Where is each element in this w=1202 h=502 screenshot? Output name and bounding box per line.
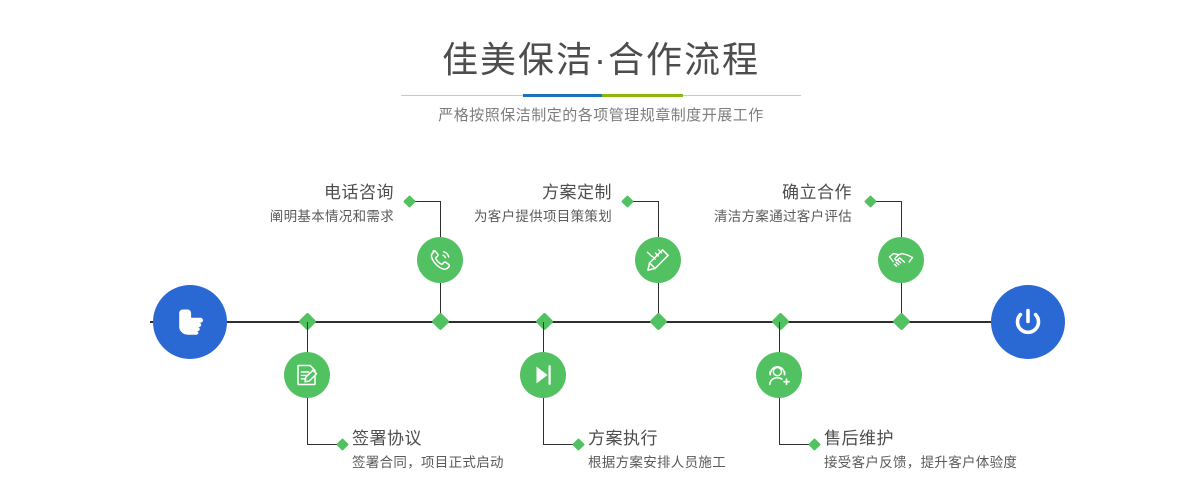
connector-vertical-2 [307, 322, 308, 352]
axis-marker-5 [771, 312, 789, 330]
page-title: 佳美保洁·合作流程 [0, 38, 1202, 82]
stage-title-6: 售后维护 [824, 428, 1144, 450]
stage-icon-5[interactable] [878, 237, 924, 283]
title-divider [401, 94, 801, 97]
process-timeline: 电话咨询 阐明基本情况和需求 签署协议 签署合同，项目正式启动 [0, 150, 1202, 502]
headset-support-icon [765, 361, 793, 389]
axis-marker-6 [892, 312, 910, 330]
stage-icon-4[interactable] [520, 352, 566, 398]
pointing-hand-icon [170, 302, 210, 342]
handshake-icon [887, 246, 915, 274]
power-button-icon [1008, 302, 1048, 342]
connector-vertical-2b [307, 398, 308, 444]
page-header: 佳美保洁·合作流程 严格按照保洁制定的各项管理规章制度开展工作 [0, 0, 1202, 150]
stage-desc-5: 清洁方案通过客户评估 [562, 206, 852, 227]
stage-label-5: 确立合作 清洁方案通过客户评估 [562, 182, 852, 227]
timeline-end-endpoint[interactable] [991, 285, 1065, 359]
connector-marker-2 [336, 438, 349, 451]
divider-segment-green [602, 94, 683, 97]
phone-call-icon [426, 246, 454, 274]
timeline-start-endpoint[interactable] [153, 285, 227, 359]
connector-vertical-4 [543, 322, 544, 352]
timeline-axis [150, 321, 1052, 323]
axis-marker-2 [431, 312, 449, 330]
connector-horizontal-5 [875, 201, 902, 202]
connector-vertical-6 [779, 322, 780, 352]
divider-segment-blue [523, 94, 602, 97]
axis-marker-4 [649, 312, 667, 330]
connector-vertical-5b [901, 201, 902, 237]
stage-icon-6[interactable] [756, 352, 802, 398]
stage-icon-1[interactable] [417, 237, 463, 283]
stage-icon-3[interactable] [635, 237, 681, 283]
page-subtitle: 严格按照保洁制定的各项管理规章制度开展工作 [0, 105, 1202, 127]
document-pen-icon [293, 361, 321, 389]
connector-vertical-4b [543, 398, 544, 444]
connector-marker-5 [864, 195, 877, 208]
connector-vertical-6b [779, 398, 780, 444]
pencil-ruler-icon [644, 246, 672, 274]
stage-label-6: 售后维护 接受客户反馈，提升客户体验度 [824, 428, 1144, 473]
stage-icon-2[interactable] [284, 352, 330, 398]
stage-desc-6: 接受客户反馈，提升客户体验度 [824, 452, 1144, 473]
stage-title-5: 确立合作 [562, 182, 852, 204]
axis-marker-3 [535, 312, 553, 330]
play-skip-icon [529, 361, 557, 389]
